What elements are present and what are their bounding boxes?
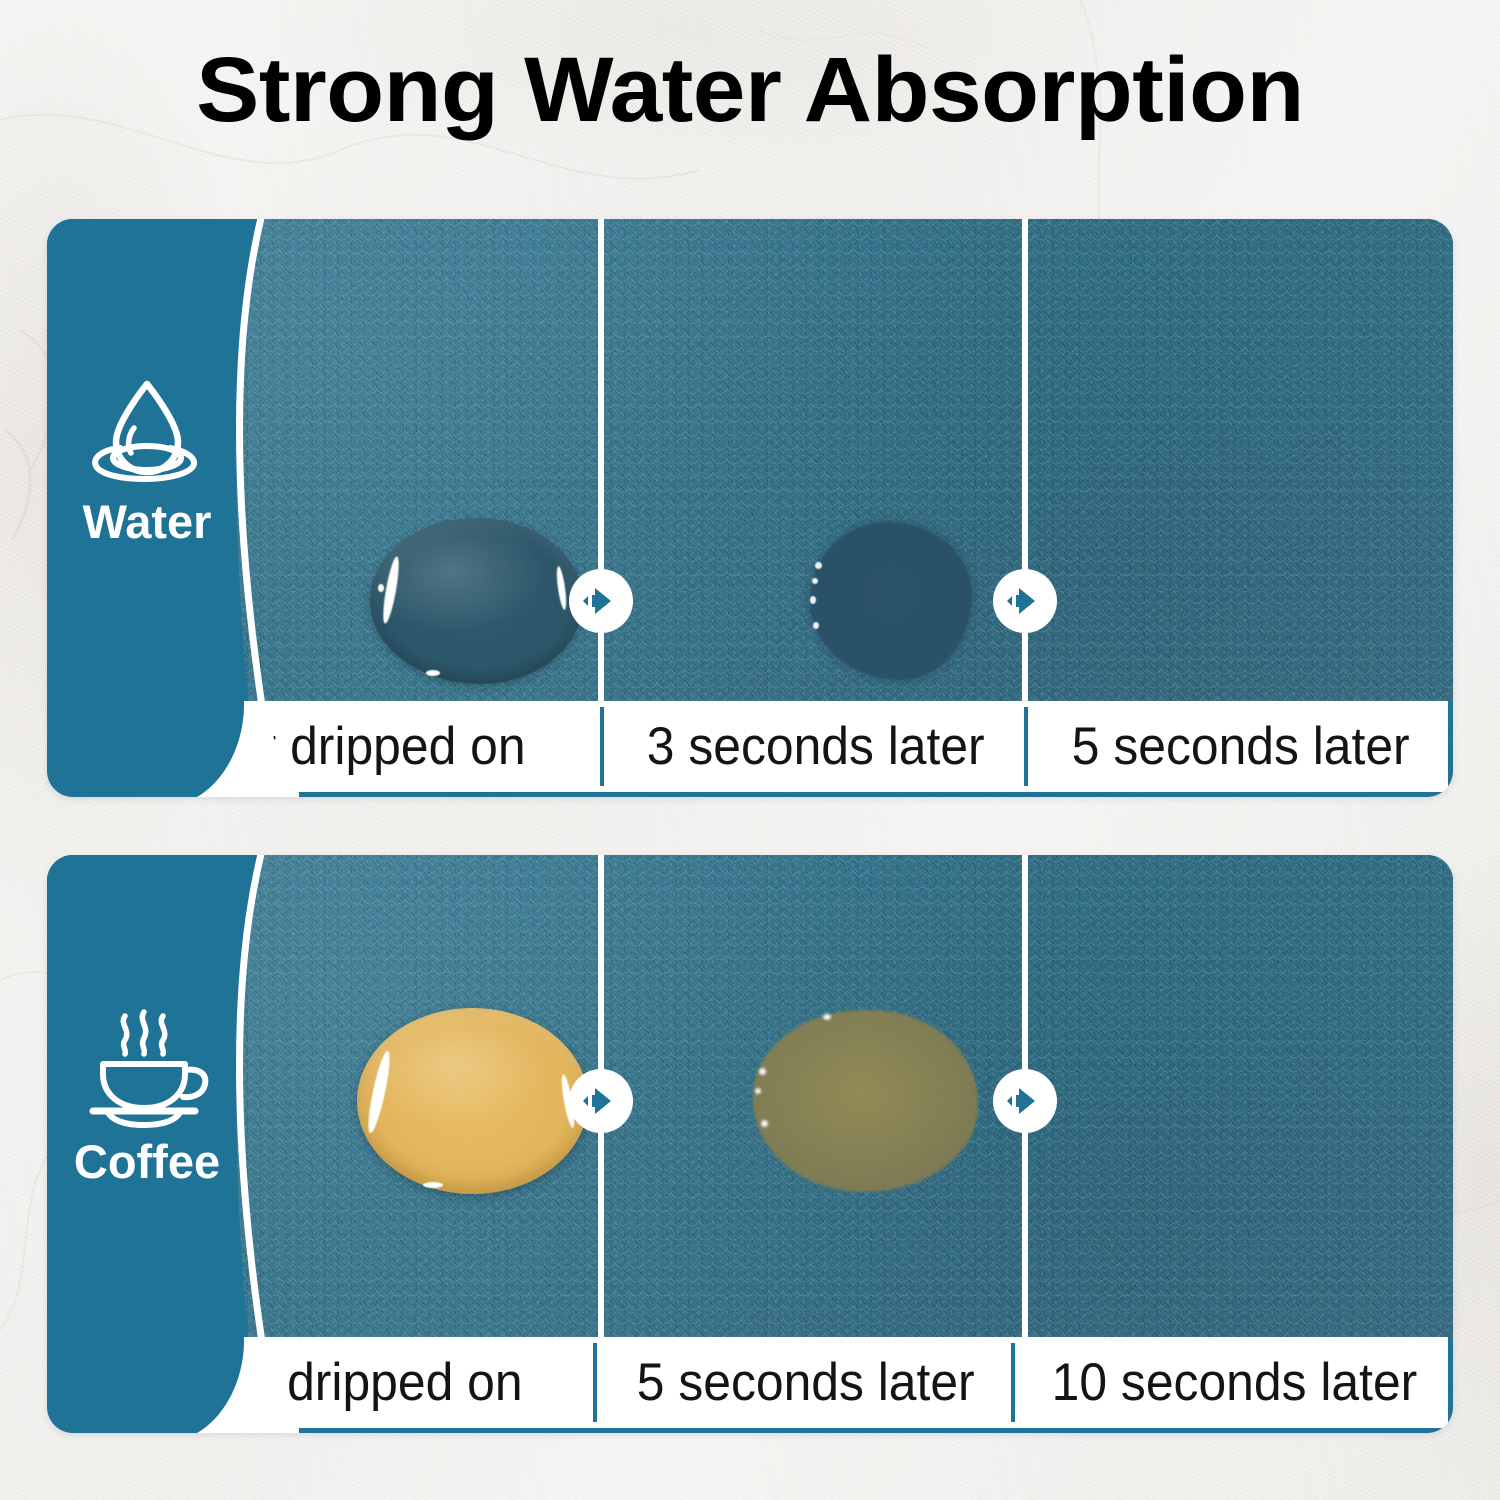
caption-right-edge — [1448, 701, 1453, 792]
caption-cell-1: Just dripped on — [47, 1337, 597, 1428]
water-speck — [812, 578, 818, 584]
water-speck — [813, 622, 819, 629]
caption-cell-3: 10 seconds later — [1015, 1337, 1453, 1428]
mat-speckle-overlay — [47, 219, 1453, 701]
coffee-speck — [823, 1014, 831, 1020]
water-speck — [810, 596, 816, 604]
droplet-highlight-edge — [378, 584, 384, 592]
arrow-badge-2 — [993, 1069, 1057, 1133]
coffee-stain-partial — [753, 1010, 978, 1192]
droplet-highlight-left — [364, 1050, 393, 1135]
caption-cell-3: 5 seconds later — [1028, 701, 1453, 792]
droplet-highlight-right — [555, 566, 568, 611]
label-coffee: Coffee — [74, 1138, 220, 1185]
mat-surface-texture — [47, 219, 1453, 701]
caption-text: Just dripped on — [185, 720, 526, 773]
label-water: Water — [83, 498, 212, 545]
caption-cell-2: 5 seconds later — [597, 1337, 1015, 1428]
arrow-badge-1 — [569, 1069, 633, 1133]
page-title: Strong Water Absorption — [0, 44, 1500, 136]
coffee-speck — [755, 1088, 761, 1094]
caption-text: 10 seconds later — [1051, 1356, 1417, 1409]
label-content-coffee: Coffee — [47, 855, 247, 1337]
caption-right-edge — [1448, 1337, 1453, 1428]
coffee-cup-icon — [81, 1008, 213, 1128]
caption-text: 5 seconds later — [1072, 720, 1410, 773]
droplet-highlight-bottom — [423, 1182, 443, 1188]
coffee-speck — [761, 1120, 768, 1127]
caption-text: Just dripped on — [182, 1356, 523, 1409]
demo-row-coffee: Coffee Just dripped on 5 seconds later 1… — [47, 855, 1453, 1433]
caption-cell-1: Just dripped on — [47, 701, 604, 792]
water-drop-icon — [86, 376, 208, 488]
mat-surface-texture — [47, 855, 1453, 1337]
caption-bar-coffee: Just dripped on 5 seconds later 10 secon… — [47, 1337, 1453, 1433]
caption-bar-water: Just dripped on 3 seconds later 5 second… — [47, 701, 1453, 797]
coffee-speck — [759, 1068, 766, 1075]
photo-area-coffee: Coffee — [47, 855, 1453, 1337]
label-content-water: Water — [47, 219, 247, 701]
water-droplet-fresh — [370, 518, 583, 684]
photo-area-water: Water — [47, 219, 1453, 701]
arrow-right-icon — [581, 1084, 621, 1118]
arrow-badge-1 — [569, 569, 633, 633]
arrow-right-icon — [1005, 1084, 1045, 1118]
droplet-highlight-bottom — [426, 670, 440, 676]
mat-speckle-overlay — [47, 855, 1453, 1337]
demo-row-water: Water Just dripped on 3 seconds later 5 … — [47, 219, 1453, 797]
arrow-badge-2 — [993, 569, 1057, 633]
arrow-right-icon — [1005, 584, 1045, 618]
coffee-droplet-fresh — [357, 1008, 588, 1194]
arrow-right-icon — [581, 584, 621, 618]
caption-cell-2: 3 seconds later — [604, 701, 1028, 792]
water-speck — [815, 562, 822, 569]
caption-text: 5 seconds later — [637, 1356, 975, 1409]
caption-text: 3 seconds later — [647, 720, 985, 773]
